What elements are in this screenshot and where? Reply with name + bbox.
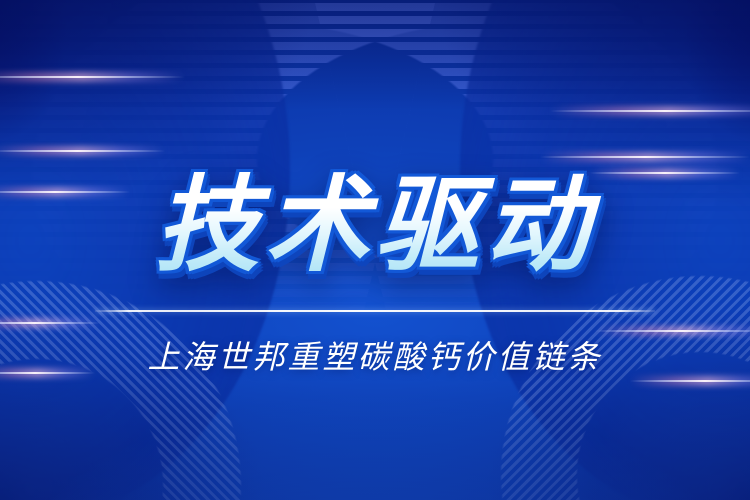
banner-subtitle: 上海世邦重塑碳酸钙价值链条 [147, 332, 602, 378]
banner-content: 技术驱动 上海世邦重塑碳酸钙价值链条 [0, 0, 750, 500]
title-wrapper: 技术驱动 [145, 170, 605, 280]
banner-title: 技术驱动 [145, 170, 605, 280]
title-divider [95, 310, 655, 312]
promo-banner: 技术驱动 上海世邦重塑碳酸钙价值链条 [0, 0, 750, 500]
